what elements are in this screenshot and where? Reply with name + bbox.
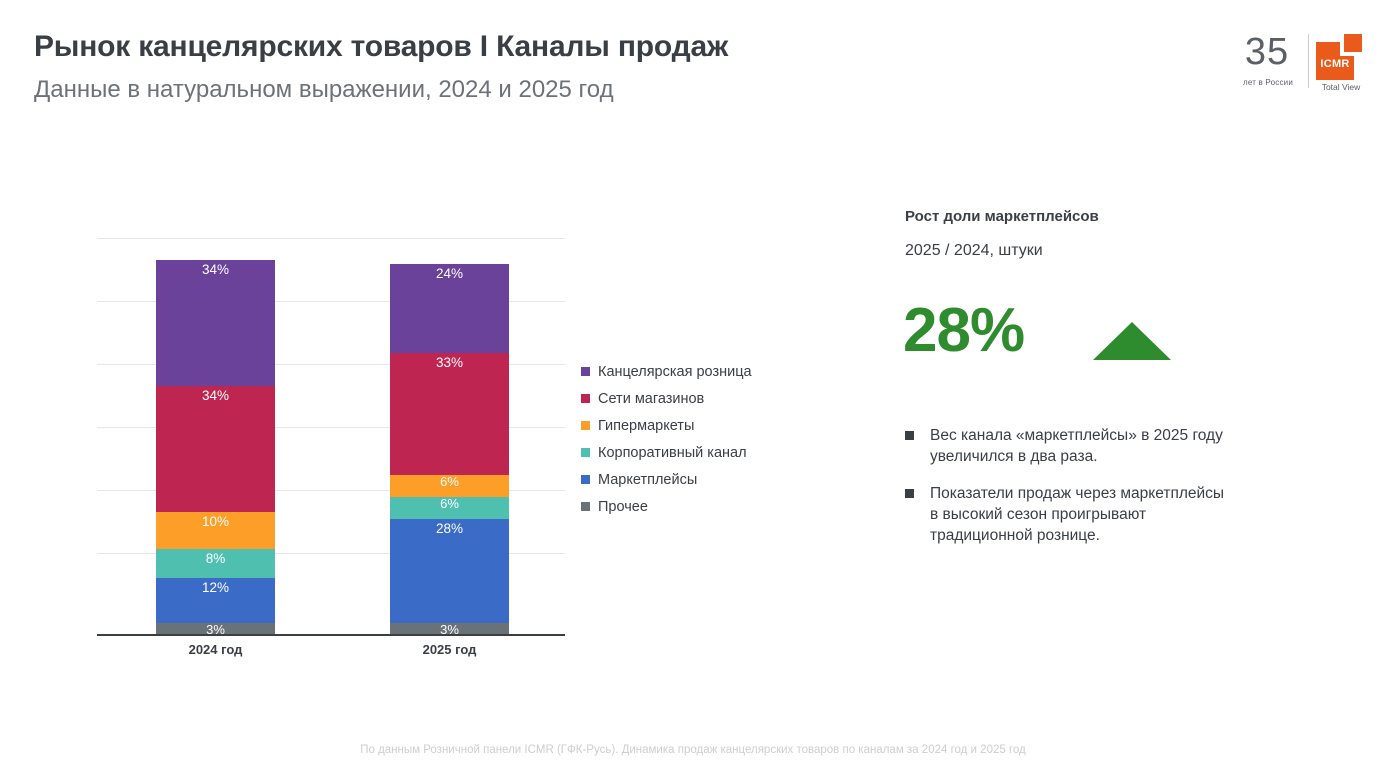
kpi-heading: Рост доли маркетплейсов <box>905 208 1099 225</box>
list-item: Показатели продаж через маркетплейсы в в… <box>905 483 1225 546</box>
bar-segment-label: 3% <box>156 623 275 634</box>
list-item-text: Показатели продаж через маркетплейсы в в… <box>930 483 1225 546</box>
bar-segment-label: 12% <box>156 578 275 595</box>
list-item-text: Вес канала «маркетплейсы» в 2025 году ув… <box>930 425 1225 467</box>
legend-swatch-icon <box>581 448 590 457</box>
bar-segment-label: 28% <box>390 519 509 536</box>
chart-axis-line <box>97 634 565 636</box>
legend-label: Прочее <box>598 499 648 515</box>
bullet-square-icon <box>905 489 914 498</box>
logo-brand-text: ICMR <box>1316 58 1354 70</box>
bar-segment[interactable]: 6% <box>390 475 509 497</box>
logo-square-small <box>1344 34 1362 52</box>
logo-tagline: Total View <box>1316 82 1366 92</box>
page-title: Рынок канцелярских товаров I Каналы прод… <box>34 30 728 64</box>
slide-root: Рынок канцелярских товаров I Каналы прод… <box>0 0 1386 779</box>
x-axis-label-2024: 2024 год <box>156 642 275 657</box>
bar-segment[interactable]: 34% <box>156 260 275 386</box>
legend-swatch-icon <box>581 421 590 430</box>
logo-divider <box>1308 34 1309 88</box>
legend-label: Корпоративный канал <box>598 445 747 461</box>
bar-segment-label: 6% <box>390 497 509 511</box>
legend-item[interactable]: Сети магазинов <box>581 385 752 412</box>
legend-label: Маркетплейсы <box>598 472 697 488</box>
logo-mark-icon: ICMR <box>1316 34 1362 80</box>
page-subtitle: Данные в натуральном выражении, 2024 и 2… <box>34 76 614 104</box>
legend-item[interactable]: Прочее <box>581 493 752 520</box>
legend-swatch-icon <box>581 394 590 403</box>
bar-segment[interactable]: 3% <box>156 623 275 634</box>
list-item: Вес канала «маркетплейсы» в 2025 году ув… <box>905 425 1225 467</box>
bar-segment-label: 34% <box>156 386 275 403</box>
bar-segment[interactable]: 24% <box>390 264 509 353</box>
bar-segment-label: 10% <box>156 512 275 529</box>
legend-label: Гипермаркеты <box>598 418 694 434</box>
bar-segment-label: 34% <box>156 260 275 277</box>
bar-segment-label: 33% <box>390 353 509 370</box>
bar-segment-label: 3% <box>390 623 509 634</box>
gridline-0 <box>97 238 565 239</box>
x-axis-label-2025: 2025 год <box>390 642 509 657</box>
footnote: По данным Розничной панели ICMR (ГФК-Рус… <box>0 744 1386 756</box>
bar-segment[interactable]: 34% <box>156 386 275 512</box>
legend-swatch-icon <box>581 502 590 511</box>
kpi-subheading: 2025 / 2024, штуки <box>905 242 1043 260</box>
legend-item[interactable]: Гипермаркеты <box>581 412 752 439</box>
trend-up-triangle-icon <box>1093 322 1171 360</box>
bar-segment-label: 8% <box>156 549 275 566</box>
icmr-logo: 35 лет в России ICMR Total View <box>1232 30 1364 98</box>
legend-label: Сети магазинов <box>598 391 704 407</box>
legend-label: Канцелярская розница <box>598 364 752 380</box>
logo-anniversary-text: лет в России <box>1232 78 1304 87</box>
bar-segment[interactable]: 28% <box>390 519 509 623</box>
bar-segment[interactable]: 12% <box>156 578 275 622</box>
bar-segment[interactable]: 6% <box>390 497 509 519</box>
bullet-square-icon <box>905 431 914 440</box>
legend-swatch-icon <box>581 367 590 376</box>
bar-segment-label: 6% <box>390 475 509 489</box>
bar-segment[interactable]: 8% <box>156 549 275 579</box>
legend-item[interactable]: Маркетплейсы <box>581 466 752 493</box>
chart-legend: Канцелярская розницаСети магазиновГиперм… <box>581 358 752 520</box>
bar-segment-label: 24% <box>390 264 509 281</box>
bar-segment[interactable]: 3% <box>390 623 509 634</box>
legend-item[interactable]: Корпоративный канал <box>581 439 752 466</box>
stacked-bar-chart: 34%34%10%8%12%3%24%33%6%6%28%3% 2024 год… <box>97 238 565 634</box>
legend-item[interactable]: Канцелярская розница <box>581 358 752 385</box>
bar-segment[interactable]: 10% <box>156 512 275 549</box>
bar-segment[interactable]: 33% <box>390 353 509 475</box>
logo-anniversary-number: 35 <box>1232 32 1302 72</box>
legend-swatch-icon <box>581 475 590 484</box>
insights-list: Вес канала «маркетплейсы» в 2025 году ув… <box>905 425 1225 562</box>
kpi-value: 28% <box>903 298 1024 364</box>
